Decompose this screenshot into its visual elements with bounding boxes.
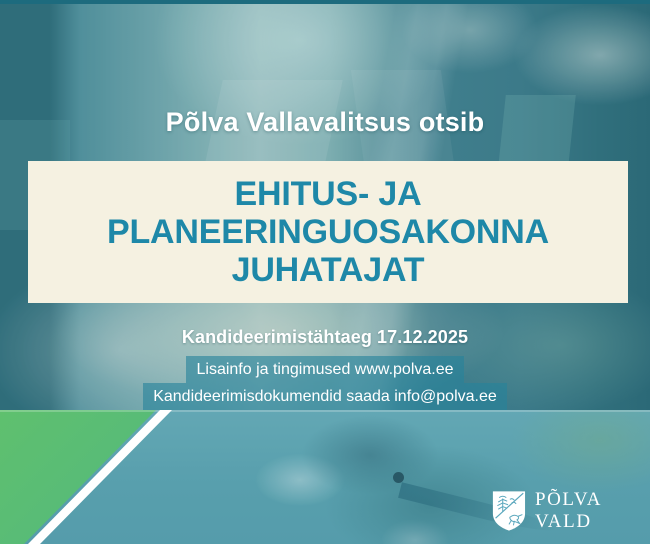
kingfisher-eye xyxy=(393,472,404,483)
polva-vald-logo: PÕLVA VALD xyxy=(492,488,650,534)
job-advert-poster: Põlva Vallavalitsus otsib EHITUS- JA PLA… xyxy=(0,0,650,544)
top-edge-strip xyxy=(0,0,650,4)
contact-email-line: Kandideerimisdokumendid saada info@polva… xyxy=(143,383,507,410)
polva-vald-shield-icon xyxy=(492,488,526,534)
poster-kicker: Põlva Vallavalitsus otsib xyxy=(0,107,650,138)
contact-block: Lisainfo ja tingimused www.polva.ee Kand… xyxy=(0,356,650,410)
deadline-text: Kandideerimistähtaeg 17.12.2025 xyxy=(0,327,650,348)
contact-website-line: Lisainfo ja tingimused www.polva.ee xyxy=(186,356,463,383)
logo-wordmark: PÕLVA VALD xyxy=(535,489,650,533)
title-box: EHITUS- JA PLANEERINGUOSAKONNA JUHATAJAT xyxy=(28,161,628,303)
page-title: EHITUS- JA PLANEERINGUOSAKONNA JUHATAJAT xyxy=(28,175,628,289)
